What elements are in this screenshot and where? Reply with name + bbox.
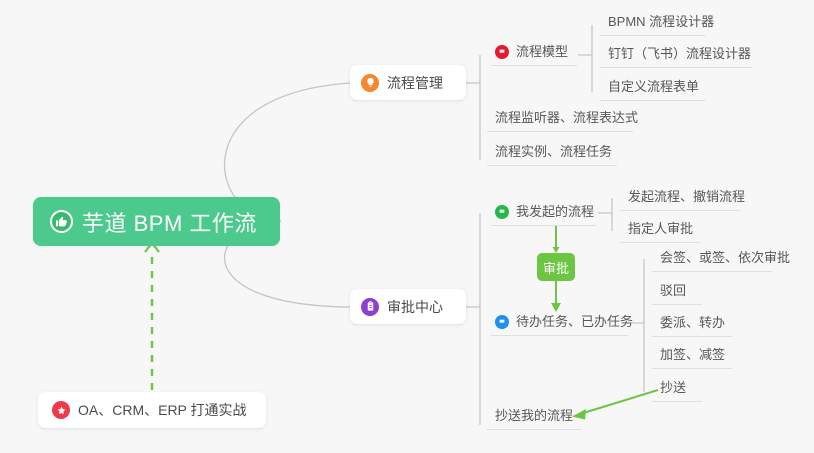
leaf-multi-approval[interactable]: 会签、或签、依次审批 (652, 248, 772, 272)
root-node[interactable]: 芋道 BPM 工作流 (33, 197, 280, 246)
leaf-label-assignee-approval: 指定人审批 (628, 221, 693, 236)
leaf-label-cc-my-process: 抄送我的流程 (495, 408, 573, 423)
branch-node-process-management[interactable]: 流程管理 (350, 65, 466, 100)
leaf-label-carbon-copy: 抄送 (660, 380, 686, 395)
branch-label-process-management: 流程管理 (387, 73, 443, 93)
leaf-label-start-cancel-process: 发起流程、撤销流程 (628, 189, 745, 204)
flow-badge-approval-label: 审批 (543, 258, 569, 277)
leaf-bpmn-designer[interactable]: BPMN 流程设计器 (600, 12, 706, 36)
callout-node-integration[interactable]: OA、CRM、ERP 打通实战 (38, 392, 266, 428)
leaf-carbon-copy[interactable]: 抄送 (652, 378, 702, 402)
leaf-label-dingtalk-designer: 钉钉（飞书）流程设计器 (608, 46, 751, 61)
flag-icon (495, 315, 509, 329)
leaf-my-started-process[interactable]: 我发起的流程 (491, 202, 596, 226)
leaf-label-multi-approval: 会签、或签、依次审批 (660, 250, 790, 265)
lightbulb-icon (361, 74, 379, 92)
flag-icon (495, 205, 509, 219)
leaf-todo-done-tasks[interactable]: 待办任务、已办任务 (491, 312, 628, 336)
leaf-start-cancel-process[interactable]: 发起流程、撤销流程 (620, 187, 740, 211)
leaf-label-process-listener: 流程监听器、流程表达式 (495, 110, 638, 125)
thumbs-up-icon (50, 210, 73, 233)
leaf-label-reject: 驳回 (660, 283, 686, 298)
mindmap-canvas: 芋道 BPM 工作流 流程管理 审批中心 流程模型 流程监听器、流程表达式 流程… (0, 0, 814, 453)
leaf-custom-form[interactable]: 自定义流程表单 (600, 77, 706, 101)
flow-arrow-cc-to-ccflow (580, 390, 658, 414)
branch-label-approval-center: 审批中心 (387, 297, 443, 317)
leaf-add-remove-sign[interactable]: 加签、减签 (652, 345, 732, 369)
leaf-label-process-instance: 流程实例、流程任务 (495, 144, 612, 159)
leaf-delegate-transfer[interactable]: 委派、转办 (652, 313, 732, 337)
leaf-cc-my-process[interactable]: 抄送我的流程 (487, 406, 581, 430)
star-icon (52, 401, 70, 419)
flag-icon (495, 45, 509, 59)
leaf-process-model[interactable]: 流程模型 (491, 42, 577, 66)
leaf-label-my-started-process: 我发起的流程 (516, 202, 594, 221)
leaf-label-custom-form: 自定义流程表单 (608, 79, 699, 94)
branch-node-approval-center[interactable]: 审批中心 (350, 289, 466, 324)
leaf-label-delegate-transfer: 委派、转办 (660, 315, 725, 330)
callout-label-integration: OA、CRM、ERP 打通实战 (78, 400, 247, 420)
leaf-assignee-approval[interactable]: 指定人审批 (620, 219, 700, 243)
flow-badge-approval[interactable]: 审批 (537, 253, 575, 281)
leaf-process-listener[interactable]: 流程监听器、流程表达式 (487, 108, 633, 132)
clipboard-icon (361, 298, 379, 316)
root-label: 芋道 BPM 工作流 (82, 206, 257, 238)
leaf-label-process-model: 流程模型 (516, 42, 568, 61)
leaf-label-add-remove-sign: 加签、减签 (660, 347, 725, 362)
leaf-dingtalk-designer[interactable]: 钉钉（飞书）流程设计器 (600, 44, 752, 68)
flow-arrowhead-2 (551, 303, 561, 312)
leaf-label-todo-done-tasks: 待办任务、已办任务 (516, 312, 633, 331)
leaf-reject[interactable]: 驳回 (652, 281, 702, 305)
leaf-process-instance[interactable]: 流程实例、流程任务 (487, 142, 617, 166)
leaf-label-bpmn-designer: BPMN 流程设计器 (608, 14, 714, 29)
